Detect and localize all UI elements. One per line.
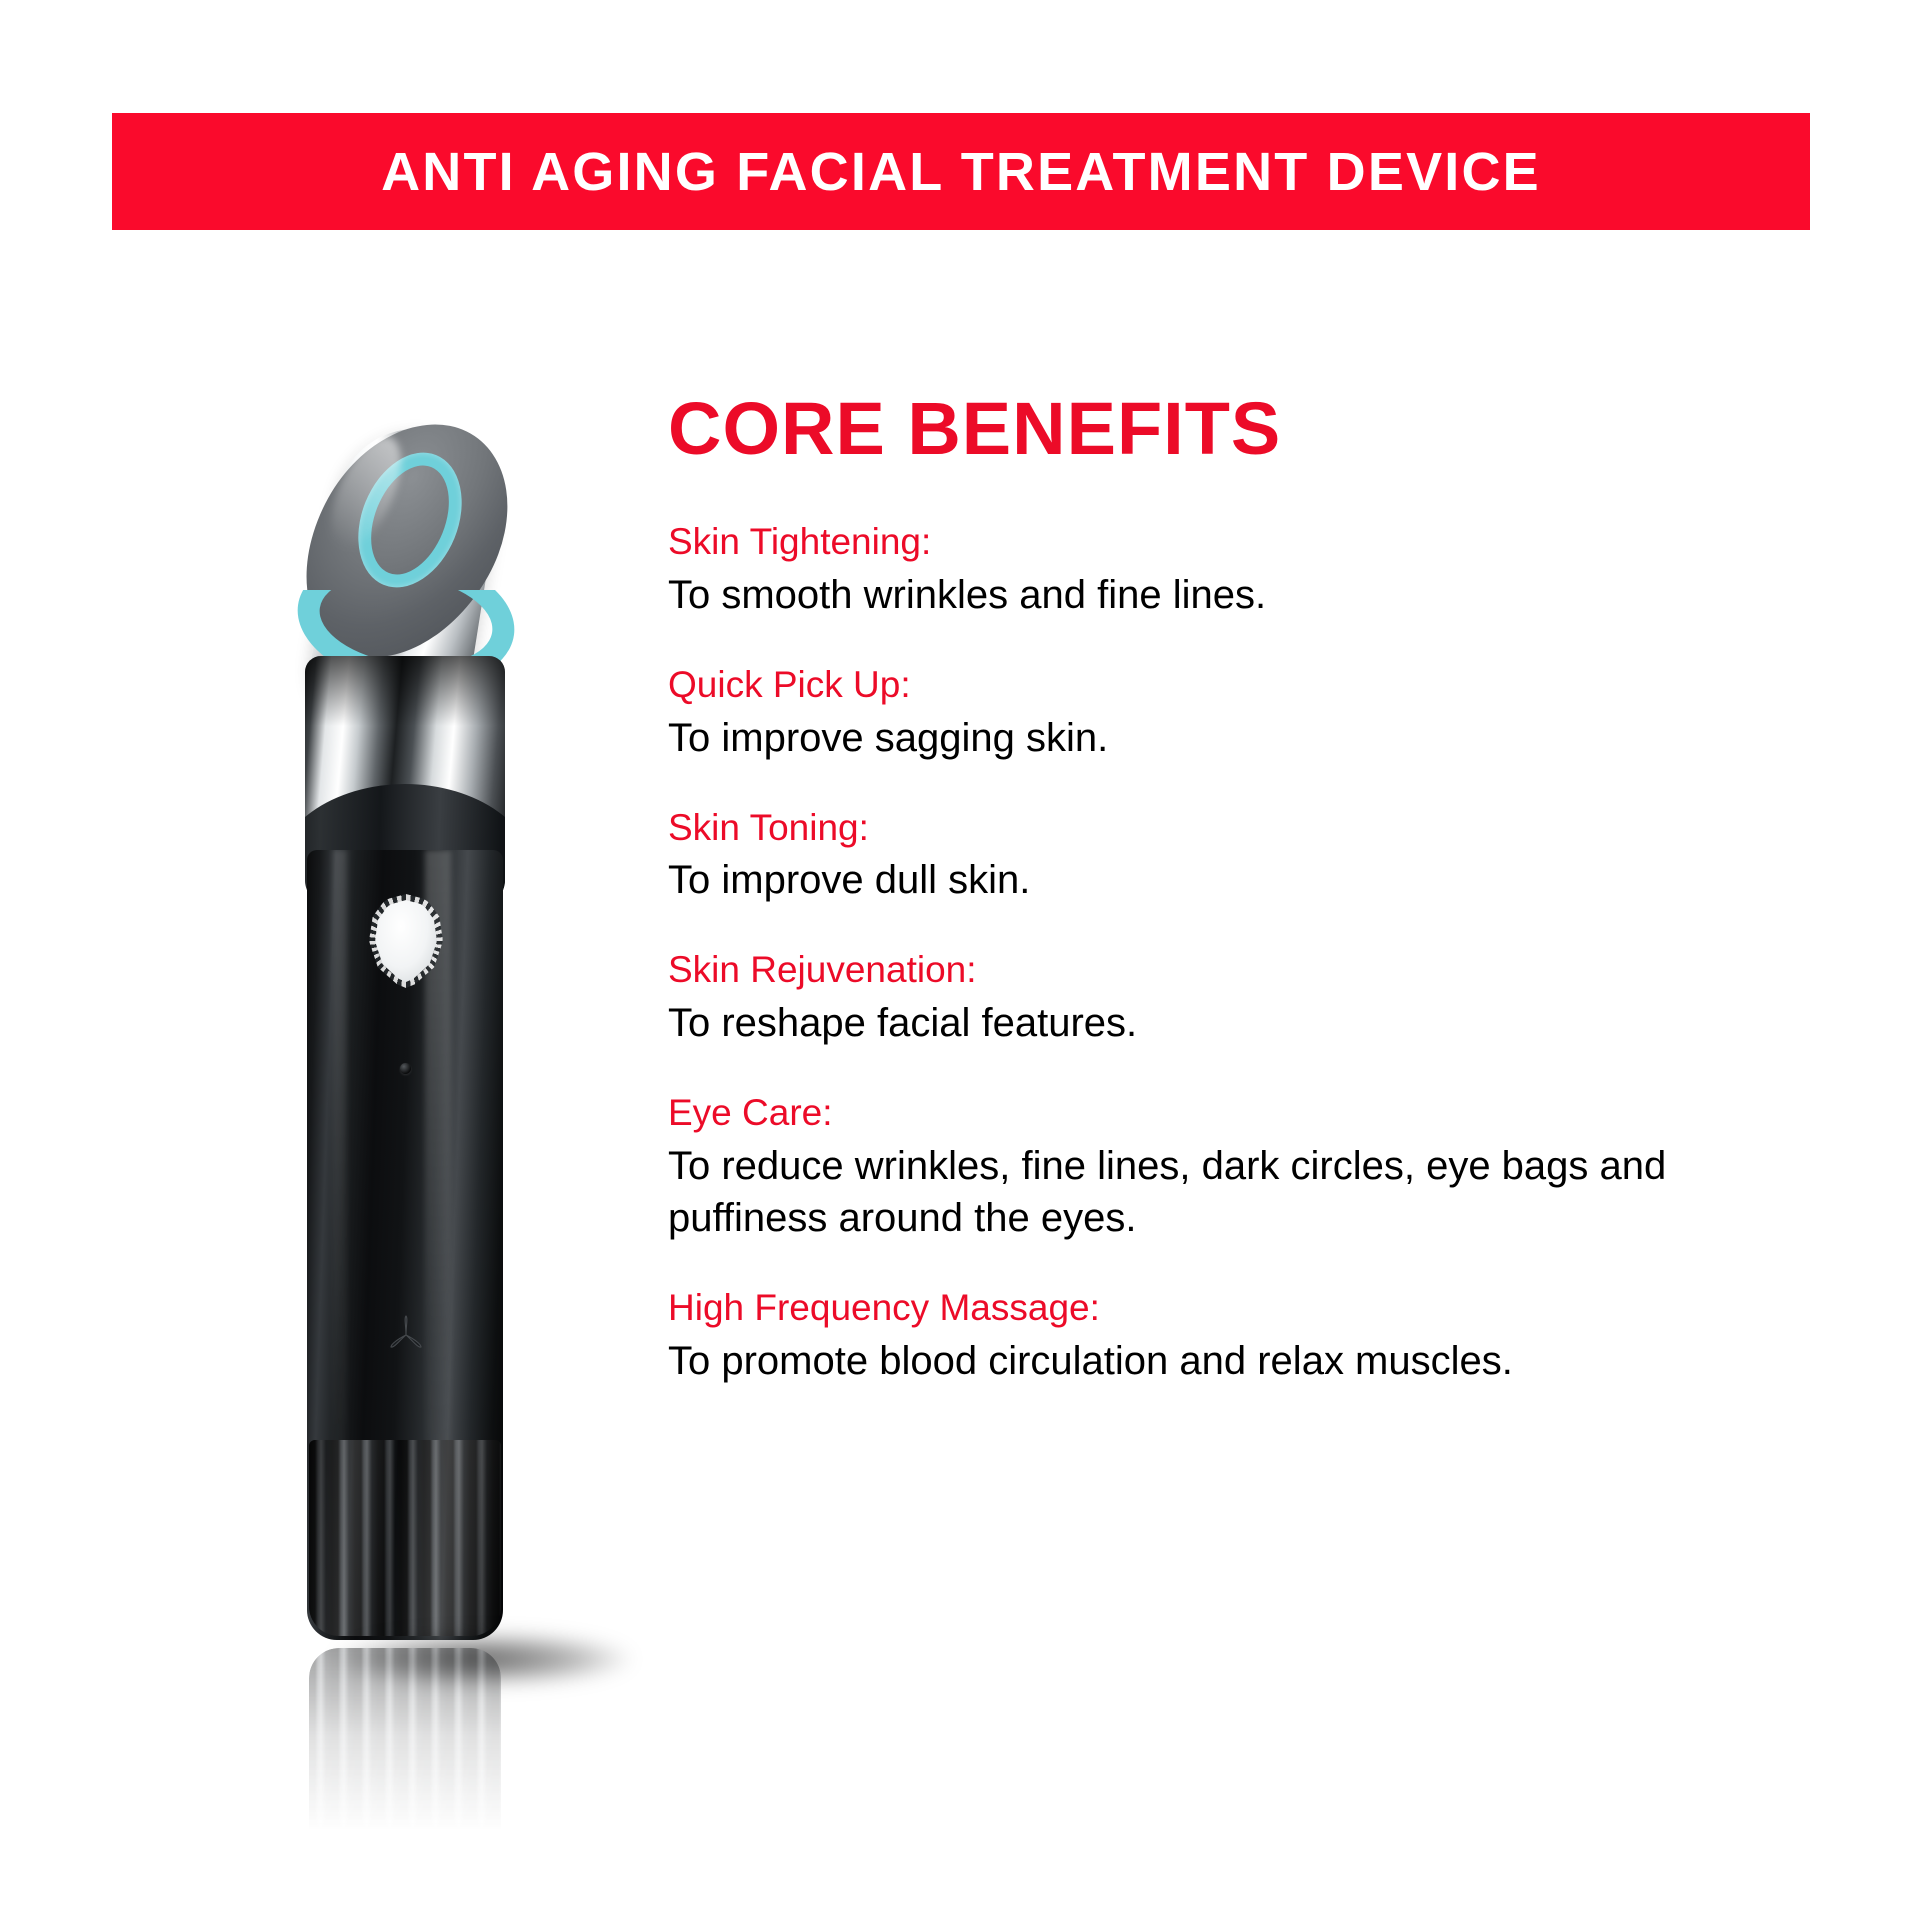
benefit-label: Skin Rejuvenation: — [668, 946, 1798, 995]
benefit-item-quick-pick-up: Quick Pick Up: To improve sagging skin. — [668, 661, 1798, 764]
ribs-sheen — [309, 1440, 501, 1636]
header-banner: ANTI AGING FACIAL TREATMENT DEVICE — [112, 113, 1810, 230]
benefit-description: To reduce wrinkles, fine lines, dark cir… — [668, 1140, 1678, 1244]
benefit-label: Skin Tightening: — [668, 518, 1798, 567]
benefit-item-skin-toning: Skin Toning: To improve dull skin. — [668, 804, 1798, 907]
benefit-label: Skin Toning: — [668, 804, 1798, 853]
device-illustration — [295, 420, 515, 1730]
benefit-item-high-frequency-massage: High Frequency Massage: To promote blood… — [668, 1284, 1798, 1387]
infographic-page: ANTI AGING FACIAL TREATMENT DEVICE — [0, 0, 1920, 1920]
led-indicator-icon — [400, 1063, 411, 1074]
benefit-label: Quick Pick Up: — [668, 661, 1798, 710]
benefit-description: To smooth wrinkles and fine lines. — [668, 569, 1678, 621]
benefit-item-skin-tightening: Skin Tightening: To smooth wrinkles and … — [668, 518, 1798, 621]
collar-shadow — [305, 656, 505, 726]
benefit-label: Eye Care: — [668, 1089, 1798, 1138]
benefit-item-eye-care: Eye Care: To reduce wrinkles, fine lines… — [668, 1089, 1798, 1244]
propeller-icon — [381, 1310, 431, 1360]
product-image — [200, 400, 630, 1800]
device-ribbed-base — [309, 1440, 501, 1636]
device-reflection — [309, 1648, 501, 1878]
section-title: CORE BENEFITS — [668, 392, 1798, 466]
benefit-description: To improve sagging skin. — [668, 712, 1678, 764]
benefit-item-skin-rejuvenation: Skin Rejuvenation: To reshape facial fea… — [668, 946, 1798, 1049]
header-title: ANTI AGING FACIAL TREATMENT DEVICE — [381, 145, 1541, 199]
benefit-description: To reshape facial features. — [668, 997, 1678, 1049]
benefit-description: To promote blood circulation and relax m… — [668, 1335, 1678, 1387]
benefit-description: To improve dull skin. — [668, 854, 1678, 906]
benefit-label: High Frequency Massage: — [668, 1284, 1798, 1333]
benefits-section: CORE BENEFITS Skin Tightening: To smooth… — [668, 392, 1798, 1387]
